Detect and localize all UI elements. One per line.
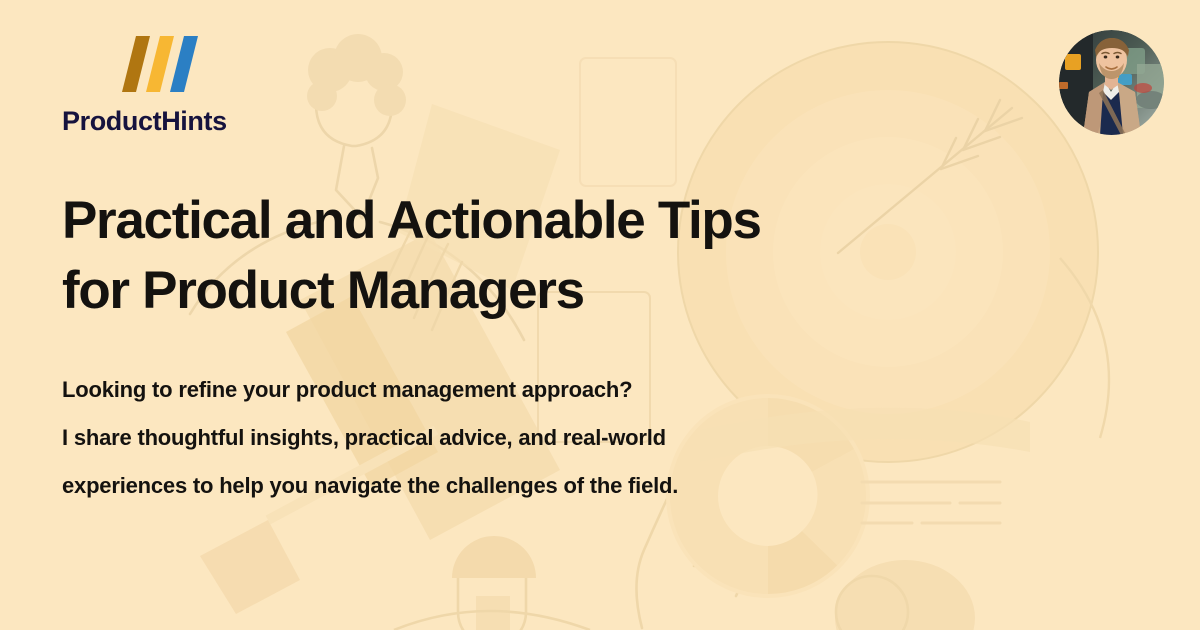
seated-person-decor	[394, 536, 590, 630]
headline-line-2: for Product Managers	[62, 256, 761, 326]
swoosh-decor	[700, 408, 1030, 462]
brand-logo-block[interactable]: ProductHints	[62, 36, 227, 137]
megaphone-decor	[200, 104, 560, 614]
page-title: Practical and Actionable Tips for Produc…	[62, 186, 761, 326]
blob-decor	[835, 560, 975, 630]
donut-chart-decor	[668, 396, 868, 596]
producthints-logo-icon	[122, 36, 206, 92]
body-line-1: Looking to refine your product managemen…	[62, 366, 678, 414]
swoosh-decor-2	[1060, 258, 1109, 438]
person-hair-decor	[307, 34, 406, 116]
arrow-decor	[838, 100, 1022, 253]
body-line-3: experiences to help you navigate the cha…	[62, 462, 678, 510]
body-line-2: I share thoughtful insights, practical a…	[62, 414, 678, 462]
subtitle-description: Looking to refine your product managemen…	[62, 366, 678, 510]
brand-name: ProductHints	[62, 106, 227, 137]
headline-line-1: Practical and Actionable Tips	[62, 186, 761, 256]
author-avatar-photo	[1059, 30, 1164, 135]
text-lines-decor	[862, 482, 1000, 523]
social-share-card: ProductHints	[0, 0, 1200, 630]
author-avatar[interactable]	[1059, 30, 1164, 135]
